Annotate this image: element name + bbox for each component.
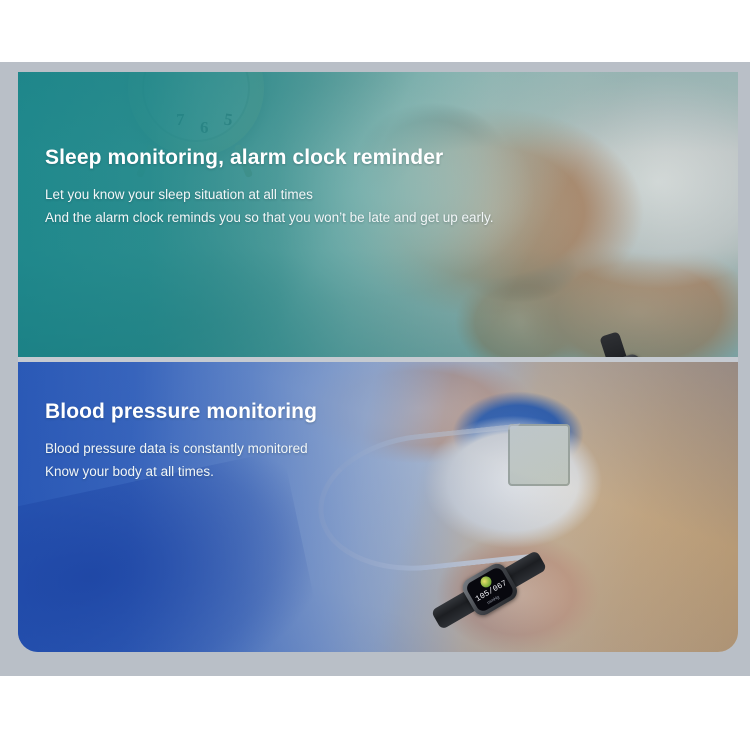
bp-copy-block: Blood pressure monitoring Blood pressure… xyxy=(45,400,317,483)
bp-headline: Blood pressure monitoring xyxy=(45,400,317,423)
bp-subline-2: Know your body at all times. xyxy=(45,460,317,483)
sleep-copy-block: Sleep monitoring, alarm clock reminder L… xyxy=(45,146,494,229)
panel-blood-pressure-monitoring: 105/067 mmHg Blood pressure monitoring B… xyxy=(18,362,738,652)
sleep-subline-1: Let you know your sleep situation at all… xyxy=(45,183,494,206)
feature-banner-stack: 7 6 5 08:05 xyxy=(18,72,738,652)
bp-subline-1: Blood pressure data is constantly monito… xyxy=(45,437,317,460)
panel-sleep-monitoring: 7 6 5 08:05 xyxy=(18,72,738,357)
sleep-headline: Sleep monitoring, alarm clock reminder xyxy=(45,146,494,169)
sleep-subline-2: And the alarm clock reminds you so that … xyxy=(45,206,494,229)
page-root: 7 6 5 08:05 xyxy=(0,0,750,750)
